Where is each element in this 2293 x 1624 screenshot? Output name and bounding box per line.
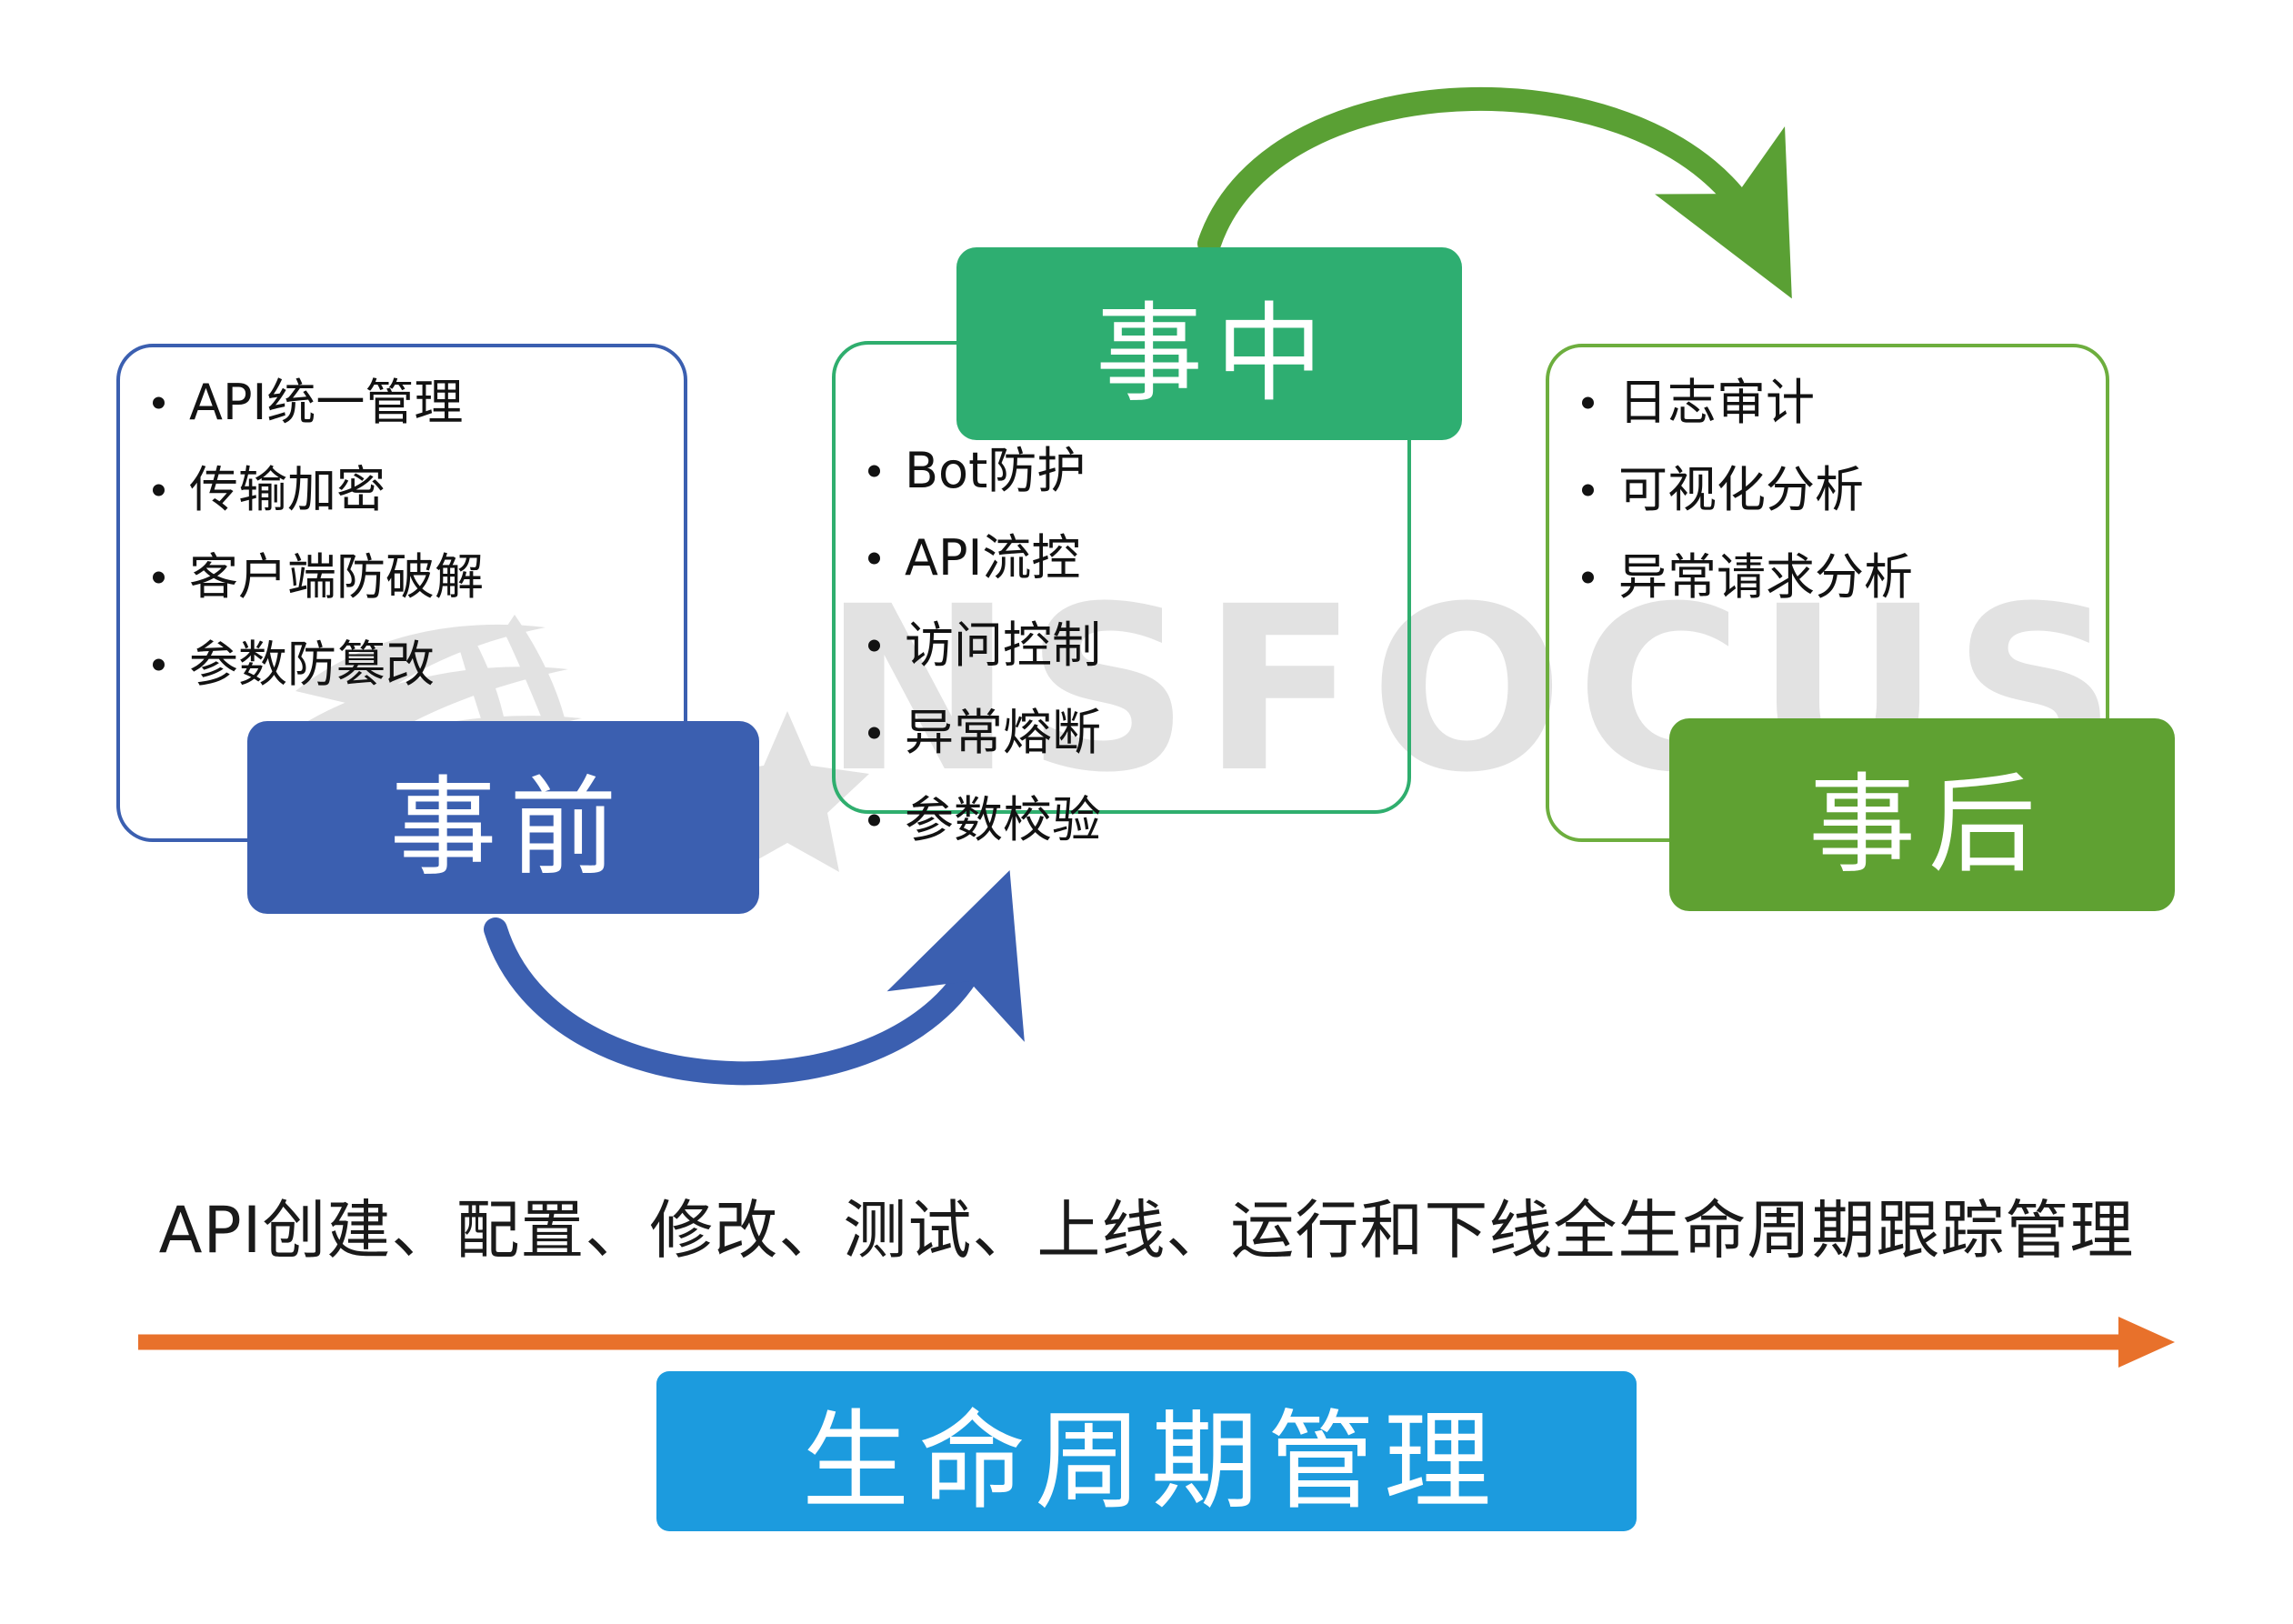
list-item: API流控 — [905, 534, 1407, 583]
list-item: 日志审计 — [1618, 378, 2106, 427]
bullet-dot-icon — [1582, 485, 1594, 496]
list-item-label: API统一管理 — [189, 374, 463, 431]
bullet-dot-icon — [868, 466, 880, 477]
lifecycle-management-bar[interactable]: 生命周期管理 — [656, 1371, 1637, 1531]
phase-pre-bullet-list: API统一管理 传输加密 客户端防破解 参数防篡改 — [120, 347, 684, 689]
phase-badge-pre[interactable]: 事前 — [247, 721, 759, 914]
bullet-dot-icon — [153, 485, 165, 496]
list-item-label: 参数防篡改 — [189, 636, 435, 693]
list-item-label: 传输加密 — [189, 461, 386, 518]
pre-to-during-arrow — [496, 929, 982, 1073]
phase-post-bullet-list: 日志审计 可视化分析 异常请求分析 — [1549, 347, 2106, 602]
list-item: 参数防篡改 — [189, 640, 684, 689]
list-item: Bot防护 — [905, 446, 1407, 496]
phase-badge-during[interactable]: 事中 — [956, 247, 1462, 440]
list-item-label: Bot防护 — [905, 442, 1086, 499]
bullet-dot-icon — [1582, 572, 1594, 584]
diagram-canvas: NSFOCUS API统一管理 传输加密 客户端防破解 参数防篡改 — [0, 0, 2293, 1624]
bullet-dot-icon — [153, 659, 165, 671]
list-item: 异常请求分析 — [1618, 553, 2106, 602]
lifecycle-timeline-arrow — [138, 1317, 2175, 1368]
list-item-label: API流控 — [905, 529, 1080, 586]
list-item: 参数校验 — [905, 796, 1407, 845]
phase-badge-post[interactable]: 事后 — [1669, 718, 2175, 911]
list-item: 传输加密 — [189, 466, 684, 515]
list-item-label: 访问控制 — [905, 617, 1101, 674]
list-item: 异常熔断 — [905, 708, 1407, 757]
list-item: API统一管理 — [189, 378, 684, 427]
list-item: 客户端防破解 — [189, 553, 684, 602]
bullet-dot-icon — [868, 640, 880, 652]
list-item: 可视化分析 — [1618, 466, 2106, 515]
lifecycle-caption: API创建、配置、修改、测试、上线、运行和下线全生命周期跟踪管理 — [0, 1179, 2293, 1271]
bullet-dot-icon — [868, 815, 880, 827]
list-item-label: 异常熔断 — [905, 704, 1101, 761]
bullet-dot-icon — [868, 553, 880, 565]
list-item-label: 异常请求分析 — [1618, 548, 1913, 606]
list-item-label: 客户端防破解 — [189, 548, 484, 606]
list-item-label: 日志审计 — [1618, 374, 1815, 431]
bullet-dot-icon — [153, 397, 165, 409]
list-item-label: 可视化分析 — [1618, 461, 1864, 518]
list-item: 访问控制 — [905, 621, 1407, 670]
list-item-label: 参数校验 — [905, 791, 1101, 848]
bullet-dot-icon — [868, 727, 880, 739]
bullet-dot-icon — [1582, 397, 1594, 409]
during-to-post-arrow — [1209, 99, 1755, 244]
bullet-dot-icon — [153, 572, 165, 584]
